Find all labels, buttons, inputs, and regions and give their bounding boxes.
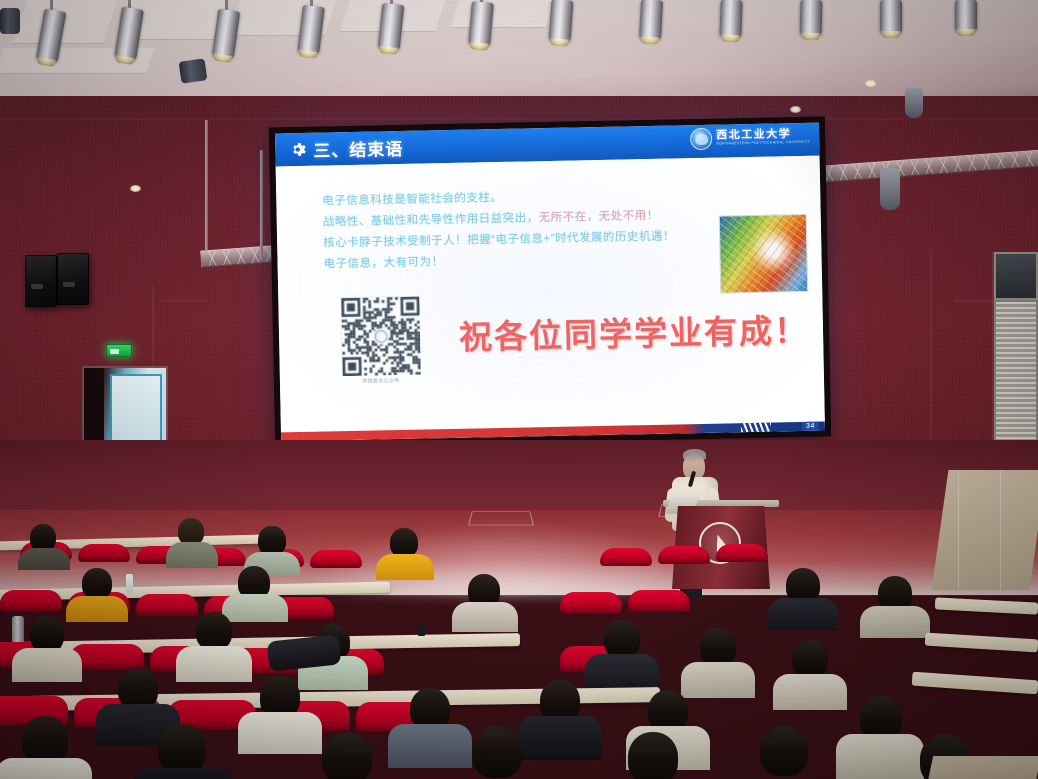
downlight: [130, 185, 141, 192]
audience-member: [760, 726, 808, 776]
window-frame: [992, 252, 995, 467]
audience-member: [196, 612, 232, 650]
audience-member-body: [388, 724, 472, 768]
footer-stripes: [741, 423, 771, 433]
audience-member: [258, 526, 286, 555]
aisle-line: [958, 470, 959, 590]
audience-member-body: [452, 602, 518, 632]
university-seal-icon: [690, 128, 712, 150]
audience-seating: [0, 520, 1038, 779]
truss-pole: [205, 120, 208, 250]
slide-page-number: 34: [802, 422, 819, 431]
audience-member-body: [836, 734, 924, 779]
gear-icon: [289, 141, 306, 158]
qr-code-icon: [340, 296, 420, 376]
seat: [560, 592, 622, 614]
loudspeaker-icon: [57, 253, 89, 305]
smartphone: [418, 624, 425, 636]
audience-member-body: [222, 594, 288, 622]
seat: [628, 590, 690, 612]
audience-member: [30, 524, 56, 551]
audience-member: [158, 724, 206, 774]
seat: [0, 590, 62, 612]
seat: [310, 550, 362, 568]
louvered-panel: [994, 300, 1038, 460]
seat: [716, 544, 768, 562]
audience-member-body: [585, 654, 659, 690]
lecture-hall-photo: 三、结束语 西北工业大学 NORTHWESTERN POLYTECHNICAL …: [0, 0, 1038, 779]
truss-pole: [260, 150, 263, 260]
aisle-floor: [927, 756, 1038, 779]
exit-sign-icon: [106, 344, 132, 357]
audience-member: [178, 518, 204, 545]
university-name-en: NORTHWESTERN POLYTECHNICAL UNIVERSITY: [716, 141, 810, 146]
wall-seam: [930, 250, 932, 450]
audience-member-body: [12, 648, 82, 682]
audience-member-body: [773, 674, 847, 710]
seat: [78, 544, 130, 562]
window-pane: [994, 252, 1038, 300]
seat: [658, 546, 710, 564]
audience-member: [390, 528, 418, 557]
chip-photo-icon: [719, 214, 809, 294]
moving-light-icon: [905, 88, 923, 118]
audience-member-body: [860, 606, 930, 638]
audience-member: [82, 568, 112, 599]
audience-member-body: [518, 716, 602, 760]
slide-title: 三、结束语: [313, 135, 403, 162]
downlight: [790, 106, 801, 113]
audience-member-body: [238, 712, 322, 754]
university-logo: 西北工业大学 NORTHWESTERN POLYTECHNICAL UNIVER…: [690, 126, 810, 150]
audience-member-body: [376, 554, 434, 580]
aisle-line: [1000, 470, 1001, 590]
moving-light-icon: [880, 168, 900, 210]
audience-member-body: [768, 598, 838, 630]
projection-screen: 三、结束语 西北工业大学 NORTHWESTERN POLYTECHNICAL …: [269, 116, 831, 447]
audience-member: [628, 732, 678, 779]
audience-member-body: [66, 596, 128, 622]
wall-seam: [0, 118, 1038, 120]
seat: [136, 594, 198, 616]
bullet-list: 电子信息科技是智能社会的支柱。 战略性、基础性和先导性作用日益突出，无所不在，无…: [322, 183, 744, 275]
audience-member: [700, 628, 736, 666]
slide-surface: 三、结束语 西北工业大学 NORTHWESTERN POLYTECHNICAL …: [275, 123, 825, 442]
thermos: [12, 616, 24, 644]
audience-member: [604, 620, 640, 658]
audience-member: [472, 726, 522, 778]
audience-member-body: [681, 662, 755, 698]
qr-caption: 学院官方公众号: [342, 377, 420, 386]
water-bottle: [126, 574, 133, 594]
audience-member-body: [166, 542, 218, 568]
audience-member-body: [176, 646, 252, 682]
aisle-floor: [932, 470, 1038, 590]
audience-member: [322, 732, 372, 779]
audience-member-body: [132, 768, 232, 779]
audience-member-body: [0, 758, 92, 779]
wall-seam: [160, 300, 208, 302]
qr-block: 学院官方公众号: [340, 296, 420, 386]
loudspeaker-icon: [25, 255, 57, 307]
slide-body: 电子信息科技是智能社会的支柱。 战略性、基础性和先导性作用日益突出，无所不在，无…: [276, 156, 825, 442]
audience-member: [792, 640, 828, 678]
audience-member: [30, 616, 64, 652]
seat: [600, 548, 652, 566]
audience-member: [22, 716, 68, 764]
downlight: [865, 80, 876, 87]
audience-member-body: [18, 548, 70, 570]
wish-headline: 祝各位同学学业有成！: [459, 304, 810, 359]
